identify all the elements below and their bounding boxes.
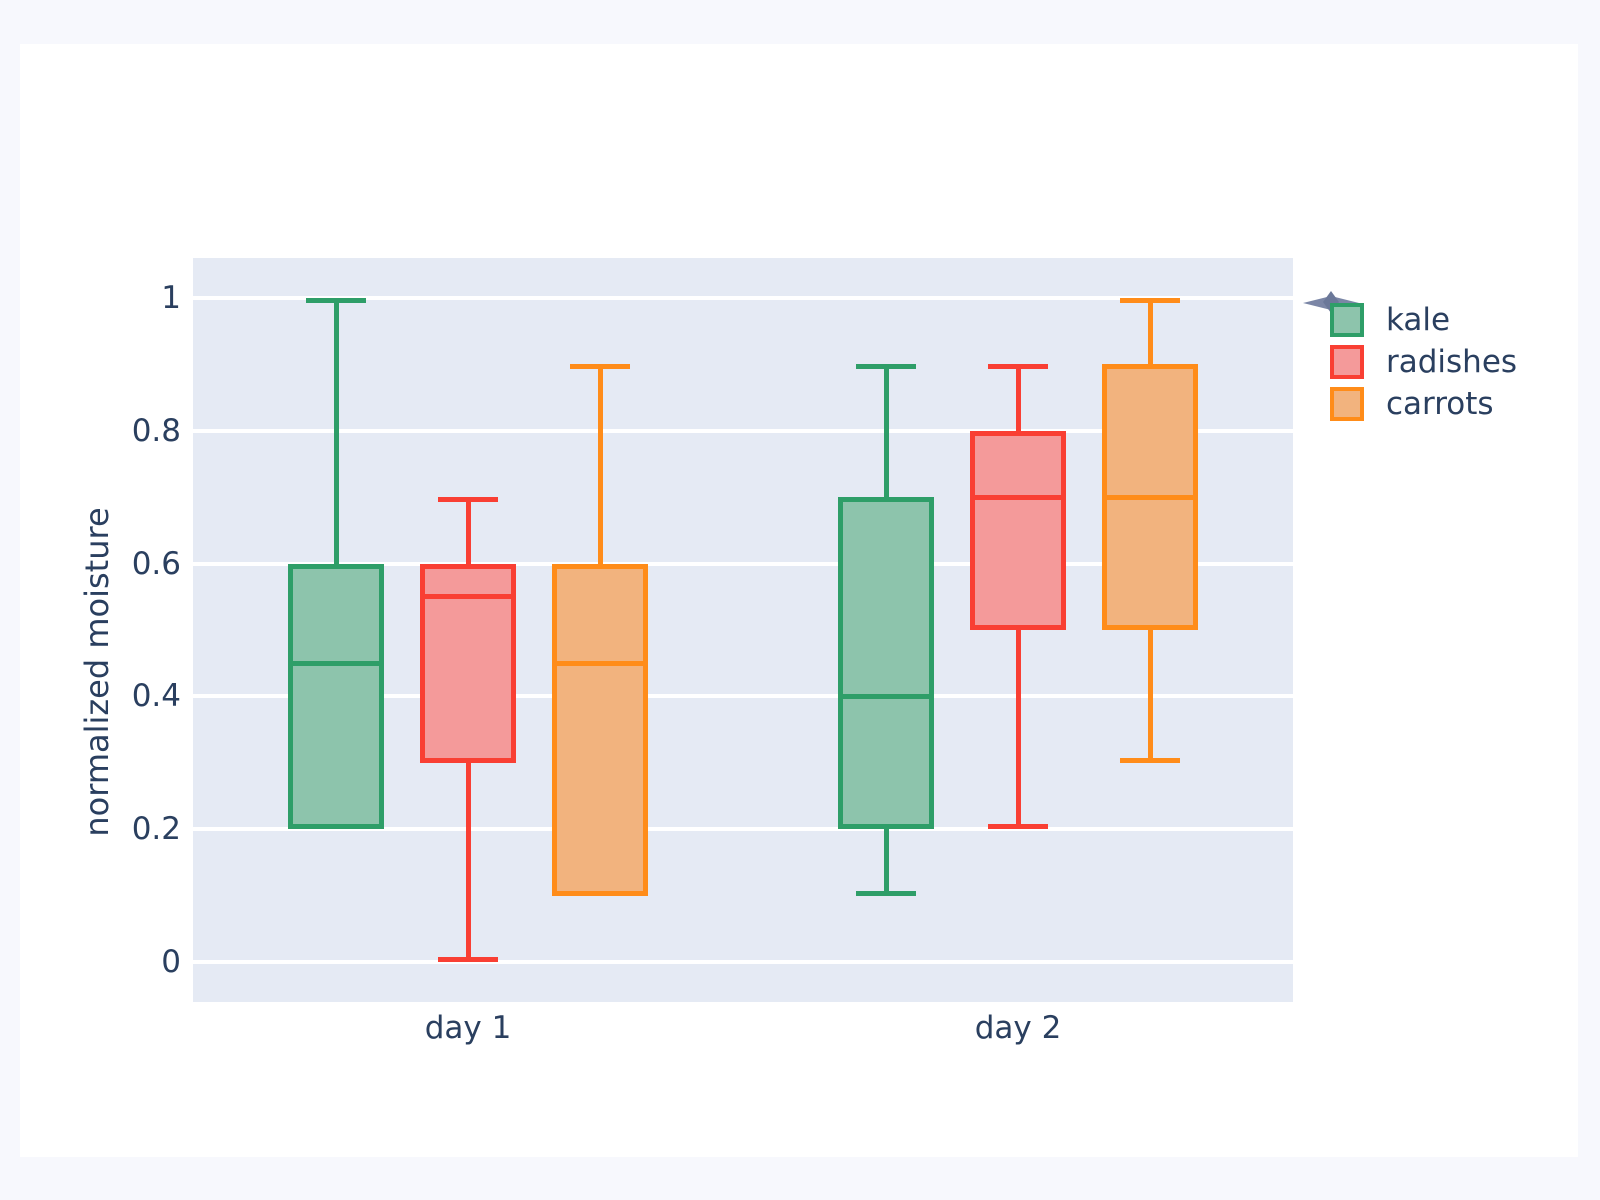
legend-item-radishes[interactable]: radishes <box>1330 341 1560 383</box>
page-root: normalized moisture 00.20.40.60.81day 1d… <box>0 0 1600 1200</box>
chart-card: normalized moisture 00.20.40.60.81day 1d… <box>20 44 1578 1157</box>
legend: kaleradishescarrots <box>1330 299 1560 425</box>
whisker-upper <box>1148 298 1153 364</box>
legend-label: kale <box>1386 305 1450 336</box>
legend-swatch-radishes <box>1330 345 1364 379</box>
whisker-cap-upper <box>1120 298 1180 303</box>
legend-label: carrots <box>1386 389 1494 420</box>
legend-item-kale[interactable]: kale <box>1330 299 1560 341</box>
legend-swatch-carrots <box>1330 387 1364 421</box>
legend-label: radishes <box>1386 347 1517 378</box>
whisker-lower <box>1148 630 1153 763</box>
legend-swatch-kale <box>1330 303 1364 337</box>
whisker-cap-lower <box>1120 758 1180 763</box>
box-plot-carrots-day-2[interactable] <box>20 44 1578 1157</box>
plot-figure: normalized moisture 00.20.40.60.81day 1d… <box>20 44 1578 1157</box>
legend-item-carrots[interactable]: carrots <box>1330 383 1560 425</box>
median-line <box>1102 495 1198 500</box>
